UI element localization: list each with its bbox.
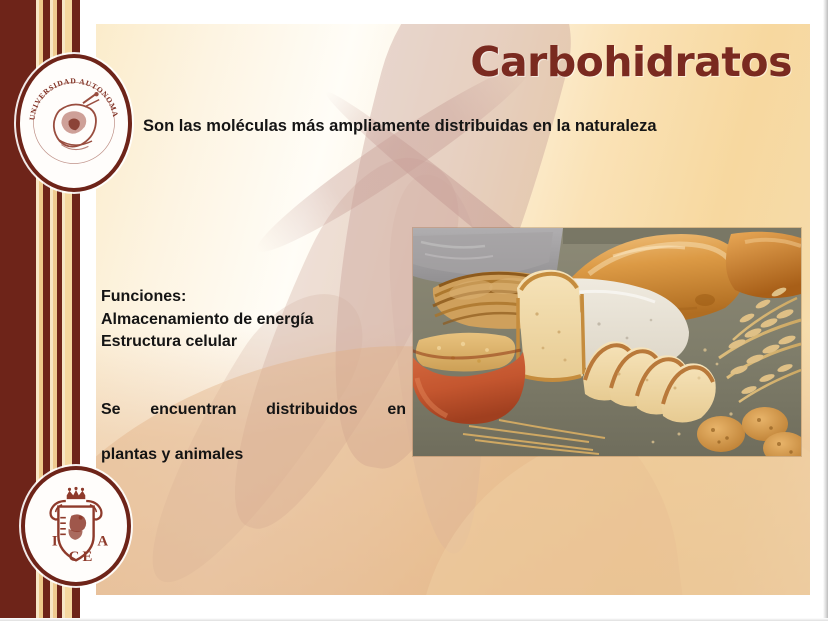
uaeh-logo: UNIVERSIDAD AUTONOMA DEL ESTADO DE HIDAL…	[16, 54, 132, 192]
distribucion-block: Se encuentran distribuidos en plantas y …	[101, 399, 406, 467]
slide-title: Carbohidratos	[470, 38, 792, 86]
icea-crest-icon: I C E A	[25, 470, 127, 582]
slide-subtitle: Son las moléculas más ampliamente distri…	[143, 117, 810, 136]
uaeh-seal-icon: UNIVERSIDAD AUTONOMA DEL ESTADO DE HIDAL…	[20, 58, 128, 188]
svg-text:E: E	[82, 549, 92, 565]
svg-text:I: I	[52, 533, 58, 549]
svg-text:C: C	[69, 549, 80, 565]
funciones-heading: Funciones:	[101, 286, 401, 309]
slide-canvas: Carbohidratos Son las moléculas más ampl…	[96, 24, 810, 595]
distribucion-line-2: plantas y animales	[101, 446, 243, 463]
bread-photo	[413, 228, 801, 456]
funciones-item-1: Almacenamiento de energía	[101, 309, 401, 332]
slide-root: Carbohidratos Son las moléculas más ampl…	[0, 0, 828, 621]
funciones-block: Funciones: Almacenamiento de energía Est…	[101, 286, 401, 354]
funciones-item-2: Estructura celular	[101, 331, 401, 354]
bread-photo-illustration	[413, 228, 801, 456]
distribucion-line-1: Se encuentran distribuidos en	[101, 399, 406, 444]
svg-text:A: A	[97, 533, 108, 549]
icea-logo: I C E A	[21, 466, 131, 586]
page-edge-right	[823, 0, 828, 621]
